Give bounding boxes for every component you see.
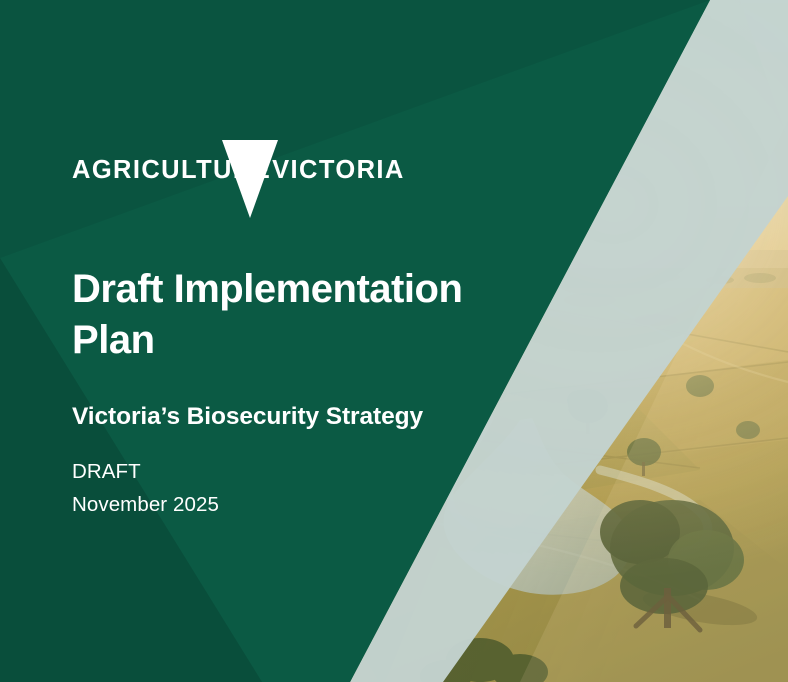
document-title: Draft Implementation Plan [72, 264, 502, 366]
wordmark-agriculture: AGRICULTURE [72, 156, 271, 184]
document-status: DRAFT [72, 455, 542, 488]
agriculture-victoria-logo: AGRICULTUREVICTORIA [72, 138, 542, 224]
document-subtitle: Victoria’s Biosecurity Strategy [72, 402, 542, 431]
document-meta: DRAFT November 2025 [72, 455, 542, 521]
document-cover: AGRICULTUREVICTORIA Draft Implementation… [0, 0, 788, 682]
document-date: November 2025 [72, 488, 542, 521]
cover-content: AGRICULTUREVICTORIA Draft Implementation… [72, 0, 542, 521]
wordmark-victoria: VICTORIA [272, 156, 405, 184]
agriculture-victoria-wordmark: AGRICULTUREVICTORIA [72, 158, 405, 184]
